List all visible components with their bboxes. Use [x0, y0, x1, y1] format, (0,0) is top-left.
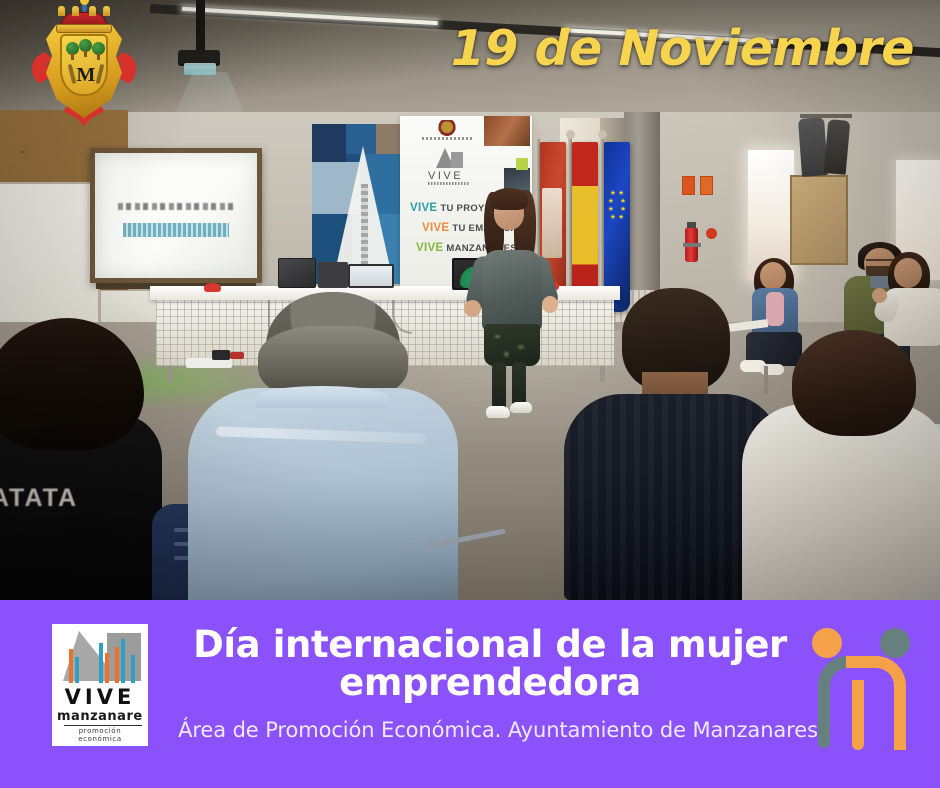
- projection-screen-frame: [90, 148, 262, 283]
- vive-logo-town: manzanares: [57, 709, 143, 724]
- rollup-vive-tagline: [428, 182, 470, 185]
- vive-logo-rule: [64, 725, 142, 726]
- extinguisher-bracket: [683, 243, 701, 247]
- laptop-1: [278, 258, 316, 288]
- vive-bar-6: [121, 639, 125, 683]
- rollup-line-1-highlight: VIVE: [410, 202, 437, 214]
- presenter-hair-top: [490, 188, 528, 210]
- presenter-skirt: [484, 324, 540, 366]
- foreground-person-grey-hoodie: [752, 330, 940, 600]
- ceiling-projector: [178, 50, 220, 64]
- audience-3-head: [894, 258, 922, 288]
- foreground-4-hair: [792, 330, 916, 436]
- slide-body-text: [123, 223, 230, 237]
- hanging-coat-2: [824, 119, 851, 175]
- audience-1-head: [760, 262, 786, 290]
- vive-bar-5: [115, 647, 119, 683]
- banner-subtitle: Área de Promoción Económica. Ayuntamient…: [158, 718, 838, 742]
- rollup-accent-chip-1: [516, 158, 528, 170]
- banner-title: Día internacional de la mujer emprendedo…: [170, 626, 810, 703]
- emergency-sign-2: [700, 176, 713, 195]
- emergency-sign-1: [682, 176, 695, 195]
- audience-3-hand: [872, 288, 887, 303]
- event-date-label: 19 de Noviembre: [451, 20, 914, 77]
- banner-title-line-1: Día internacional de la mujer: [170, 626, 810, 664]
- geometric-art-panel: [312, 124, 404, 284]
- crest-tree-3-icon: [92, 42, 105, 55]
- rollup-vive-mark-icon: [434, 146, 464, 168]
- poster: VIVE VIVE TU PROYECTO VIVE TU EMPRESA VI…: [0, 0, 940, 788]
- rollup-photo-1: [484, 116, 530, 146]
- projector-mount-pole: [196, 0, 205, 56]
- shirt-collar: [256, 386, 388, 408]
- rollup-crest-caption: [422, 137, 474, 140]
- red-cup-1: [204, 283, 221, 292]
- presenter-shoe-right: [510, 402, 532, 413]
- laptop-3-open: [348, 264, 394, 288]
- vive-manzanares-logo: VIVE manzanares promoción económica: [52, 624, 148, 746]
- vive-bar-4: [105, 653, 109, 683]
- rollup-line-2-highlight: VIVE: [422, 222, 449, 234]
- crest-monogram: M: [62, 64, 110, 87]
- hoodie-text: MATATA: [0, 484, 108, 513]
- vive-logo-building-icon: [57, 629, 143, 683]
- m-logo-head-orange: [812, 628, 842, 658]
- m-logo-head-teal: [880, 628, 910, 658]
- event-photo: VIVE VIVE TU PROYECTO VIVE TU EMPRESA VI…: [0, 0, 940, 600]
- presenter-hand-right: [542, 296, 558, 313]
- vive-bar-3: [99, 643, 103, 683]
- foreground-man-blue-shirt: [176, 296, 486, 600]
- manzanares-coat-of-arms-icon: M: [32, 8, 136, 128]
- vive-logo-word: VIVE: [57, 685, 143, 709]
- laptop-2: [318, 262, 348, 288]
- banner-title-line-2: emprendedora: [170, 664, 810, 702]
- bottom-banner: VIVE manzanares promoción económica Día …: [0, 600, 940, 788]
- crown-point-2: [72, 6, 79, 16]
- crown-point-1: [58, 6, 65, 16]
- crown-band: [56, 24, 112, 33]
- crest-tree-2-icon: [79, 39, 92, 52]
- rollup-vive-word: VIVE: [428, 170, 463, 182]
- projection-screen: [95, 153, 257, 278]
- crown-point-3: [89, 6, 96, 16]
- vive-logo-inner: VIVE manzanares promoción económica: [57, 629, 143, 741]
- tree-trunk-3: [97, 53, 100, 60]
- fire-alarm-icon: [706, 228, 717, 239]
- tree-trunk-2: [84, 50, 87, 57]
- presenter-shoe-left: [486, 406, 510, 418]
- m-logo-center-stem: [852, 680, 864, 750]
- crest-shield: M: [60, 34, 108, 96]
- flagpole-finial-eu: [598, 130, 607, 139]
- foreground-1-hair: [0, 318, 144, 450]
- vive-bar-2: [75, 657, 79, 683]
- flagpole-finial-esp: [566, 130, 575, 139]
- rollup-line-3-highlight: VIVE: [416, 242, 443, 254]
- rollup-crest-icon: [436, 120, 458, 136]
- shirt-light-blue: [188, 388, 458, 600]
- vive-bar-7: [131, 655, 135, 683]
- tree-trunk-1: [71, 53, 74, 60]
- eu-stars-icon: ★ ★★ ★★ ★★ ★: [607, 190, 627, 256]
- vive-logo-tagline: promoción económica: [57, 727, 143, 741]
- manzanares-m-people-logo-icon: [800, 622, 918, 750]
- crest-crown-icon: [56, 10, 112, 36]
- flagpole-finial-clm: [534, 130, 543, 139]
- crown-point-4: [103, 6, 110, 16]
- crest-tree-1-icon: [66, 42, 79, 55]
- vive-bar-1: [69, 649, 73, 683]
- presenter-top: [482, 250, 542, 332]
- m-logo-stem-teal: [818, 732, 830, 748]
- slide-title-text: [118, 203, 235, 210]
- presenter-leg-left: [492, 362, 506, 412]
